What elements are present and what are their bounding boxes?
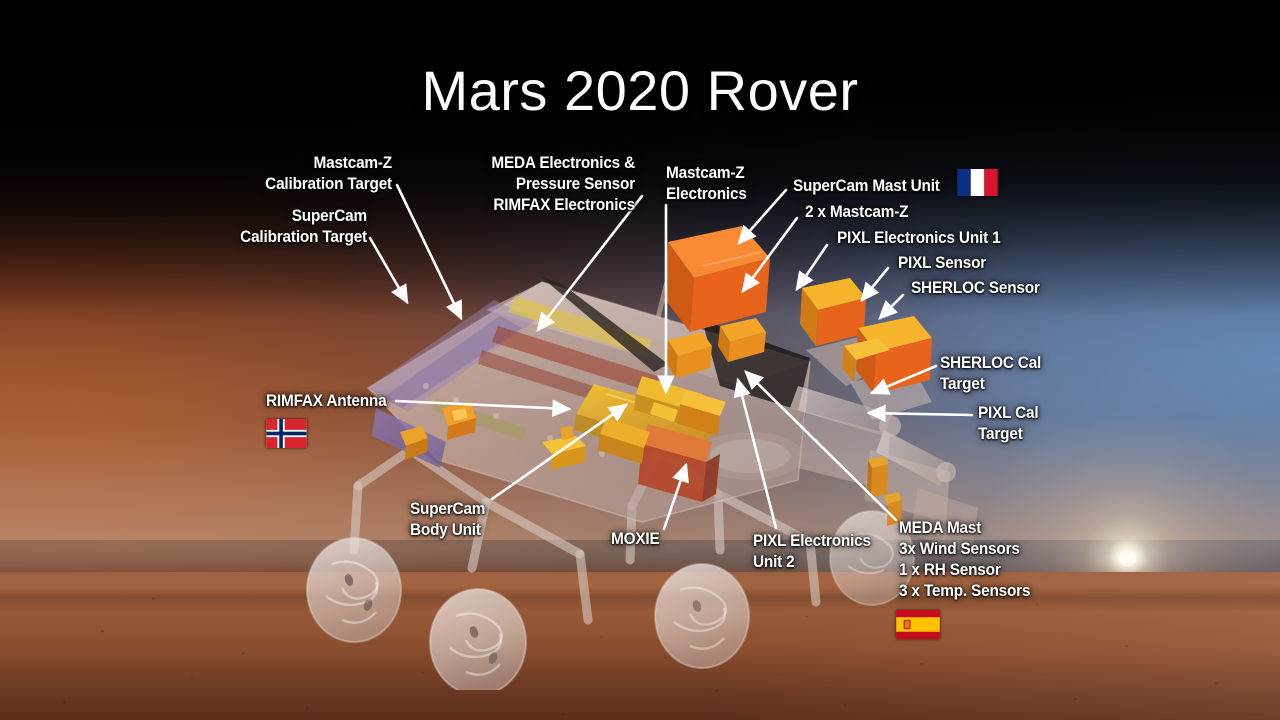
instrument-mastcam-z-electronics [664,226,770,332]
label-moxie: MOXIE [611,529,723,550]
label-pixl-sensor: PIXL Sensor [898,253,1084,274]
label-meda-rimfax-electronics: MEDA Electronics & Pressure Sensor RIMFA… [407,153,635,216]
label-meda-mast: MEDA Mast 3x Wind Sensors 1 x RH Sensor … [899,518,1113,602]
label-supercam-calibration-target: SuperCam Calibration Target [26,206,367,248]
spanish-flag [896,610,940,639]
label-pixl-electronics-unit-2: PIXL Electronics Unit 2 [753,531,920,573]
label-two-mastcam-z: 2 x Mastcam-Z [805,202,1010,223]
norwegian-flag [266,419,307,448]
instrument-sherloc-cal-target [867,456,888,498]
wheel [307,538,401,642]
label-mastcam-z-calibration-target: Mastcam-Z Calibration Target [27,153,392,195]
french-flag [957,169,998,196]
wheel [655,564,749,668]
label-sherloc-cal-target: SHERLOC Cal Target [940,353,1107,395]
label-rimfax-antenna: RIMFAX Antenna [266,391,452,412]
label-sherloc-sensor: SHERLOC Sensor [911,278,1106,299]
instrument-pixl-electronics-unit-1 [800,278,866,346]
page-title: Mars 2020 Rover [0,58,1280,123]
label-pixl-electronics-unit-1: PIXL Electronics Unit 1 [837,228,1070,249]
label-pixl-cal-target: PIXL Cal Target [978,403,1145,445]
mars-2020-rover-infographic: Mars 2020 Rover Mastcam-Z Calibration Ta… [0,0,1280,720]
wheel [430,589,526,690]
label-supercam-body-unit: SuperCam Body Unit [410,499,596,541]
